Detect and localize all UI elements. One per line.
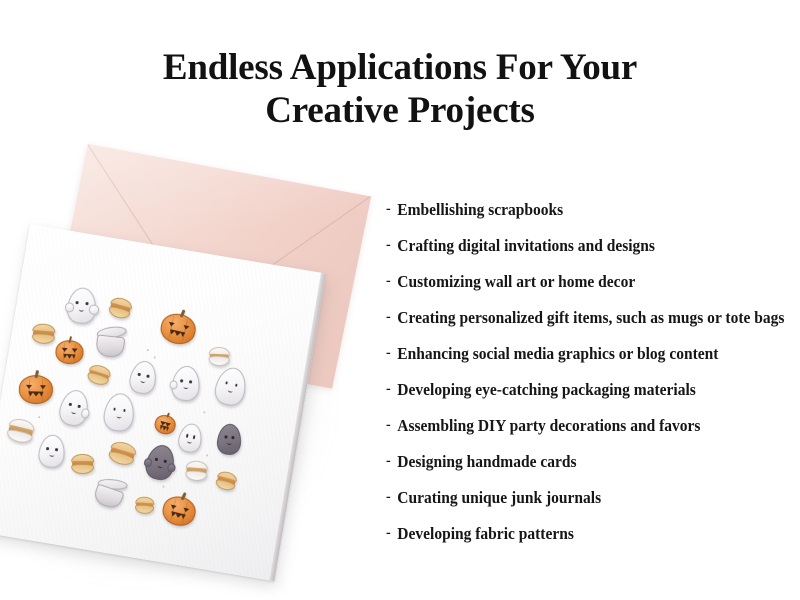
page-title: Endless Applications For Your Creative P… <box>0 46 800 132</box>
pumpkin-sticker <box>153 413 176 434</box>
ghost-sticker <box>177 421 203 452</box>
ghost-sticker <box>57 387 90 426</box>
list-item-label: Customizing wall art or home decor <box>397 264 635 300</box>
list-item-label: Assembling DIY party decorations and fav… <box>397 408 700 444</box>
macaron-sticker <box>86 363 113 388</box>
sparkle-icon <box>147 349 149 351</box>
pumpkin-sticker <box>160 493 196 526</box>
macaron-sticker <box>71 454 94 474</box>
list-item-label: Designing handmade cards <box>397 444 576 480</box>
list-item-label: Developing fabric patterns <box>397 516 574 552</box>
page-title-line-1: Endless Applications For Your <box>0 46 800 89</box>
sparkle-icon <box>162 485 164 487</box>
list-item: - Customizing wall art or home decor <box>386 264 762 300</box>
list-item-label: Creating personalized gift items, such a… <box>397 300 784 336</box>
ghost-sticker <box>216 423 241 454</box>
sparkle-icon <box>154 356 156 358</box>
sticker-artwork-grid <box>0 278 302 563</box>
bullet-dash: - <box>386 335 391 371</box>
sparkle-icon <box>203 411 205 413</box>
ghost-sticker <box>66 286 96 322</box>
list-item-label: Crafting digital invitations and designs <box>397 228 655 264</box>
pumpkin-sticker <box>55 339 82 363</box>
cauldron-sticker <box>91 475 129 511</box>
ghost-sticker <box>37 433 64 467</box>
sparkle-icon <box>38 416 40 418</box>
macaron-sticker <box>107 295 134 320</box>
macaron-sticker <box>107 439 138 467</box>
ghost-sticker <box>212 364 248 406</box>
list-item-label: Curating unique junk journals <box>397 480 601 516</box>
macaron-sticker <box>5 417 36 445</box>
list-item: - Developing fabric patterns <box>386 516 762 552</box>
sparkle-icon <box>206 454 208 456</box>
bullet-dash: - <box>386 479 391 515</box>
list-item: - Developing eye-catching packaging mate… <box>386 372 762 408</box>
macaron-sticker <box>135 496 155 514</box>
bullet-dash: - <box>386 407 391 443</box>
ghost-sticker <box>170 364 200 400</box>
macaron-sticker <box>214 470 238 493</box>
ghost-sticker <box>102 391 134 430</box>
macaron-sticker <box>185 460 209 482</box>
list-item: - Assembling DIY party decorations and f… <box>386 408 762 444</box>
pumpkin-sticker <box>19 375 52 403</box>
bullet-dash: - <box>386 371 391 407</box>
list-item: - Enhancing social media graphics or blo… <box>386 336 762 372</box>
bullet-dash: - <box>386 227 391 263</box>
bullet-dash: - <box>386 443 391 479</box>
poster-canvas: Endless Applications For Your Creative P… <box>0 0 800 600</box>
list-item: - Designing handmade cards <box>386 444 762 480</box>
applications-list: - Embellishing scrapbooks - Crafting dig… <box>386 192 786 552</box>
list-item-label: Embellishing scrapbooks <box>397 192 563 228</box>
list-item: - Curating unique junk journals <box>386 480 762 516</box>
macaron-sticker <box>31 323 55 345</box>
greeting-card <box>0 224 326 581</box>
bullet-dash: - <box>386 263 391 299</box>
bullet-dash: - <box>386 515 391 551</box>
list-item: - Embellishing scrapbooks <box>386 192 762 228</box>
bullet-dash: - <box>386 191 391 227</box>
list-item: - Crafting digital invitations and desig… <box>386 228 762 264</box>
macaron-sticker <box>208 347 230 367</box>
ghost-sticker <box>128 359 158 394</box>
cauldron-sticker <box>94 325 127 358</box>
list-item-label: Enhancing social media graphics or blog … <box>397 336 718 372</box>
page-title-line-2: Creative Projects <box>0 89 800 132</box>
pumpkin-sticker <box>158 311 196 345</box>
bullet-dash: - <box>386 299 391 335</box>
list-item: - Creating personalized gift items, such… <box>386 300 762 336</box>
ghost-sticker <box>143 442 176 480</box>
list-item-label: Developing eye-catching packaging materi… <box>397 372 696 408</box>
product-mockup-photo <box>14 132 386 572</box>
